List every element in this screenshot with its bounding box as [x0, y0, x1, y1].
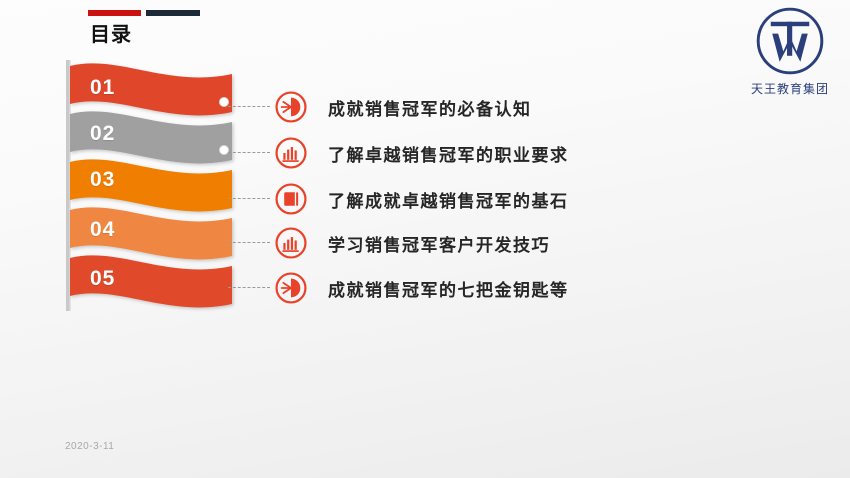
flagpole: [66, 60, 70, 311]
contents-item-04[interactable]: 学习销售冠军客户开发技巧: [228, 221, 550, 265]
connector-line-04: [228, 242, 270, 244]
contents-item-01[interactable]: 成就销售冠军的必备认知: [228, 85, 532, 129]
contents-item-03[interactable]: 了解成就卓越销售冠军的基石: [228, 177, 569, 221]
title-bar-red: [88, 10, 141, 16]
connector-line-02: [228, 152, 270, 154]
flag-number-03: 03: [90, 168, 115, 192]
contents-item-label: 了解成就卓越销售冠军的基石: [328, 187, 569, 212]
logo-caption: 天王教育集团: [738, 80, 842, 97]
book-square-icon: [274, 182, 308, 216]
flag-number-05: 05: [90, 267, 115, 291]
contents-item-label: 学习销售冠军客户开发技巧: [328, 231, 550, 256]
contents-item-02[interactable]: 了解卓越销售冠军的职业要求: [228, 131, 569, 175]
slide-canvas: 目录 天王教育集团: [0, 0, 850, 478]
brand-logo: 天王教育集团: [738, 4, 842, 97]
flag-number-04: 04: [90, 218, 115, 242]
contents-item-label: 成就销售冠军的七把金钥匙等: [328, 276, 569, 301]
page-title-block: 目录: [88, 8, 200, 16]
flag-number-01: 01: [90, 76, 115, 100]
contents-item-05[interactable]: 成就销售冠军的七把金钥匙等: [228, 266, 569, 310]
title-bar-navy: [146, 10, 200, 16]
pie-clock-icon: [274, 90, 308, 124]
tw-monogram-circle-logo: [753, 4, 827, 78]
contents-item-label: 了解卓越销售冠军的职业要求: [328, 141, 569, 166]
bar-chart-icon: [274, 226, 308, 260]
pie-clock-icon: [274, 271, 308, 305]
contents-item-label: 成就销售冠军的必备认知: [328, 95, 532, 120]
page-title: 目录: [90, 18, 132, 47]
connector-line-05: [228, 287, 270, 289]
footer-date: 2020-3-11: [65, 441, 114, 452]
flag-number-02: 02: [90, 122, 115, 146]
connector-line-03: [228, 198, 270, 200]
bar-chart-icon: [274, 136, 308, 170]
title-accent-bars: [88, 8, 200, 16]
connector-line-01: [228, 106, 270, 108]
